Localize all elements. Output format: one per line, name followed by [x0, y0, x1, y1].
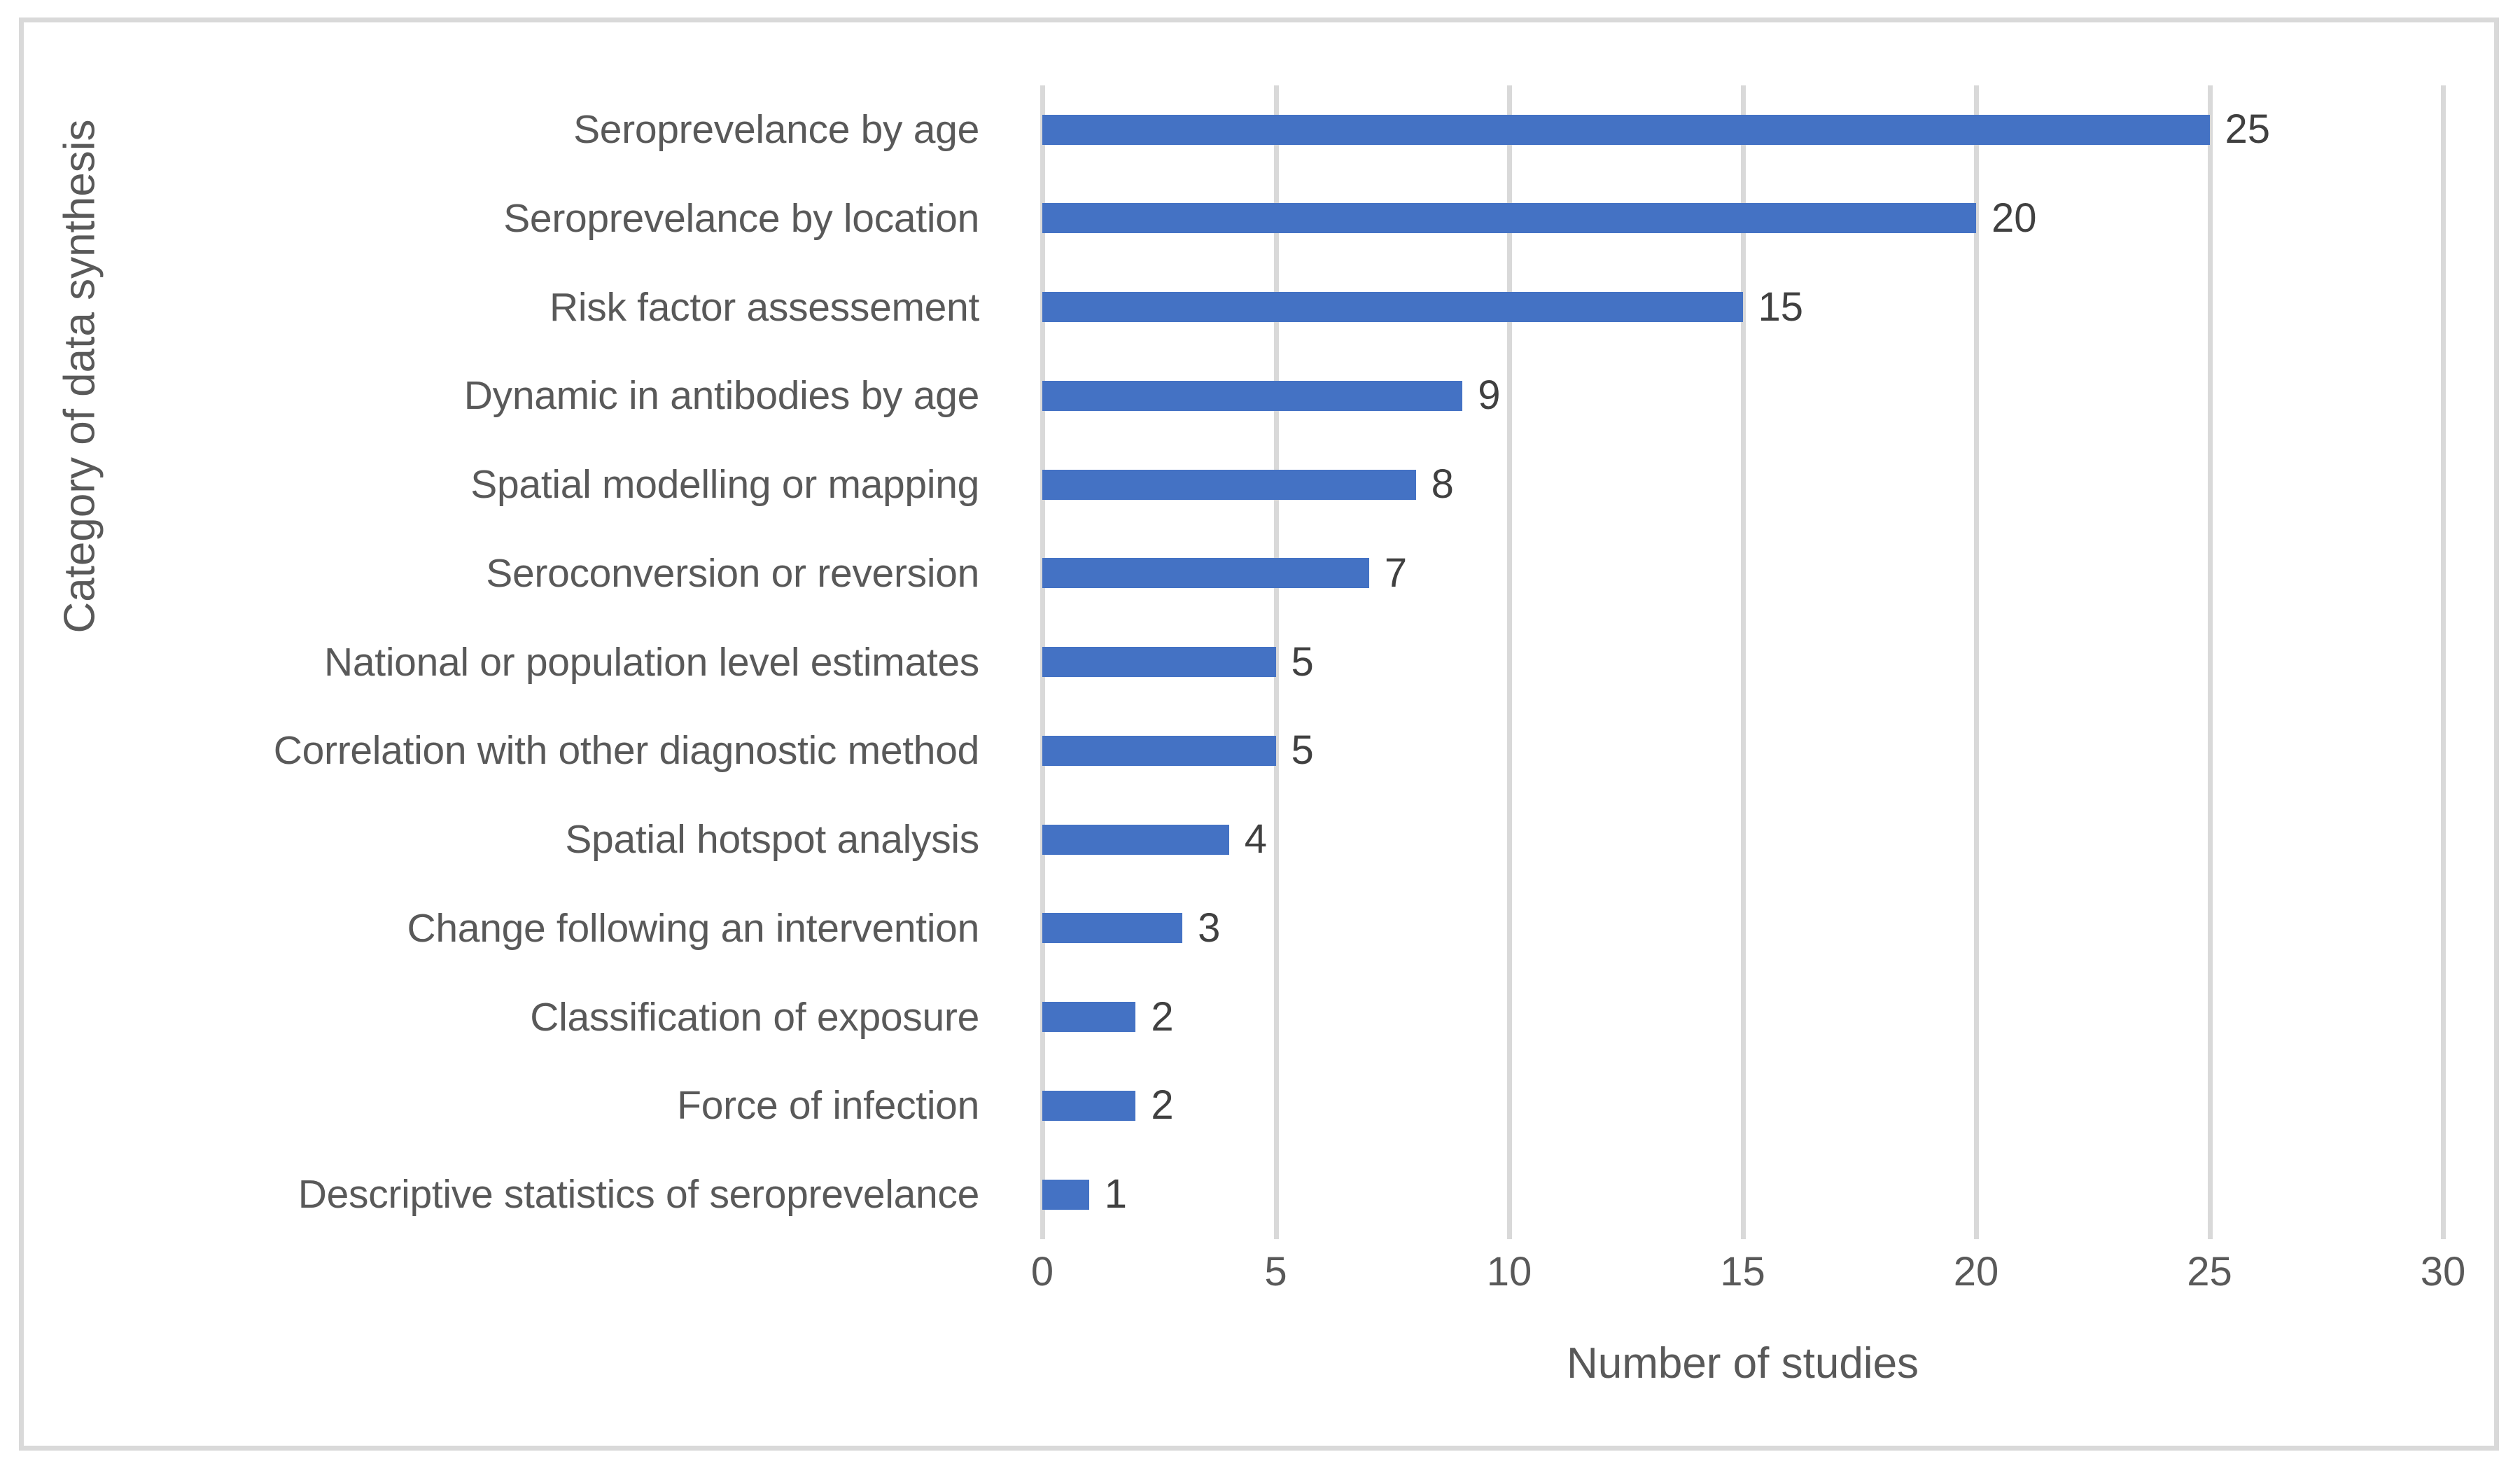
bar[interactable] — [1042, 115, 2210, 145]
x-tick-label: 10 — [1487, 1252, 1532, 1292]
bar-value-label: 1 — [1105, 1174, 1127, 1215]
bar-row[interactable]: 9 — [1042, 351, 2520, 440]
bar[interactable] — [1042, 558, 1369, 588]
bar[interactable] — [1042, 1091, 1135, 1121]
category-label: Risk factor assessement — [549, 263, 979, 351]
bar[interactable] — [1042, 1002, 1135, 1032]
category-label: Spatial modelling or mapping — [470, 440, 979, 529]
category-label: Spatial hotspot analysis — [565, 795, 979, 884]
bar-value-label: 25 — [2225, 109, 2271, 150]
bar-value-label: 4 — [1245, 819, 1267, 860]
bar[interactable] — [1042, 647, 1276, 677]
bar-value-label: 2 — [1151, 1085, 1173, 1126]
bar-row[interactable]: 5 — [1042, 618, 2520, 706]
bar[interactable] — [1042, 203, 1976, 233]
category-label: Descriptive statistics of seroprevelance — [298, 1150, 979, 1238]
bar-row[interactable]: 20 — [1042, 174, 2520, 263]
bar-value-label: 2 — [1151, 997, 1173, 1038]
category-label: Force of infection — [677, 1061, 979, 1150]
bar[interactable] — [1042, 292, 1743, 322]
x-tick-label: 0 — [1031, 1252, 1053, 1292]
bar[interactable] — [1042, 736, 1276, 766]
category-label: Seroprevelance by age — [573, 85, 979, 174]
x-tick-label: 30 — [2421, 1252, 2466, 1292]
x-tick-label: 25 — [2187, 1252, 2232, 1292]
bar-row[interactable]: 7 — [1042, 529, 2520, 617]
bar-value-label: 8 — [1431, 464, 1454, 505]
bar-row[interactable]: 3 — [1042, 884, 2520, 972]
bar-row[interactable]: 5 — [1042, 706, 2520, 795]
x-axis-title: Number of studies — [1042, 1339, 2443, 1388]
category-label: Seroconversion or reversion — [486, 529, 979, 617]
bar-value-label: 5 — [1291, 642, 1314, 683]
bar-value-label: 5 — [1291, 730, 1314, 771]
bar-row[interactable]: 4 — [1042, 795, 2520, 884]
bar[interactable] — [1042, 381, 1462, 411]
category-label: Dynamic in antibodies by age — [464, 351, 979, 440]
x-tick-label: 20 — [1954, 1252, 1999, 1292]
bar-row[interactable]: 2 — [1042, 1061, 2520, 1150]
chart-page: Category of data synthesis Seroprevelanc… — [0, 0, 2520, 1473]
x-axis-tick-labels: 051015202530 — [1042, 1252, 2443, 1308]
bar-row[interactable]: 2 — [1042, 973, 2520, 1061]
category-label: Change following an intervention — [407, 884, 979, 972]
category-label: National or population level estimates — [324, 618, 979, 706]
bar-row[interactable]: 25 — [1042, 85, 2520, 174]
x-tick-label: 5 — [1264, 1252, 1287, 1292]
bar[interactable] — [1042, 913, 1182, 943]
bar-value-label: 7 — [1385, 553, 1407, 594]
x-tick-label: 15 — [1720, 1252, 1765, 1292]
bar[interactable] — [1042, 470, 1416, 500]
plot-area: 2520159875543221 — [1042, 85, 2443, 1239]
category-axis-labels: Seroprevelance by ageSeroprevelance by l… — [66, 85, 1011, 1239]
category-label: Seroprevelance by location — [503, 174, 979, 263]
bar-value-label: 9 — [1478, 375, 1500, 416]
bar-row[interactable]: 15 — [1042, 263, 2520, 351]
category-label: Correlation with other diagnostic method — [274, 706, 979, 795]
bar-row[interactable]: 1 — [1042, 1150, 2520, 1238]
bar[interactable] — [1042, 825, 1229, 855]
category-label: Classification of exposure — [530, 973, 979, 1061]
bar[interactable] — [1042, 1180, 1089, 1210]
chart-frame: Category of data synthesis Seroprevelanc… — [19, 18, 2499, 1451]
bar-value-label: 3 — [1198, 908, 1220, 949]
bar-row[interactable]: 8 — [1042, 440, 2520, 529]
bar-value-label: 20 — [1991, 198, 2037, 239]
bar-value-label: 15 — [1758, 287, 1804, 328]
